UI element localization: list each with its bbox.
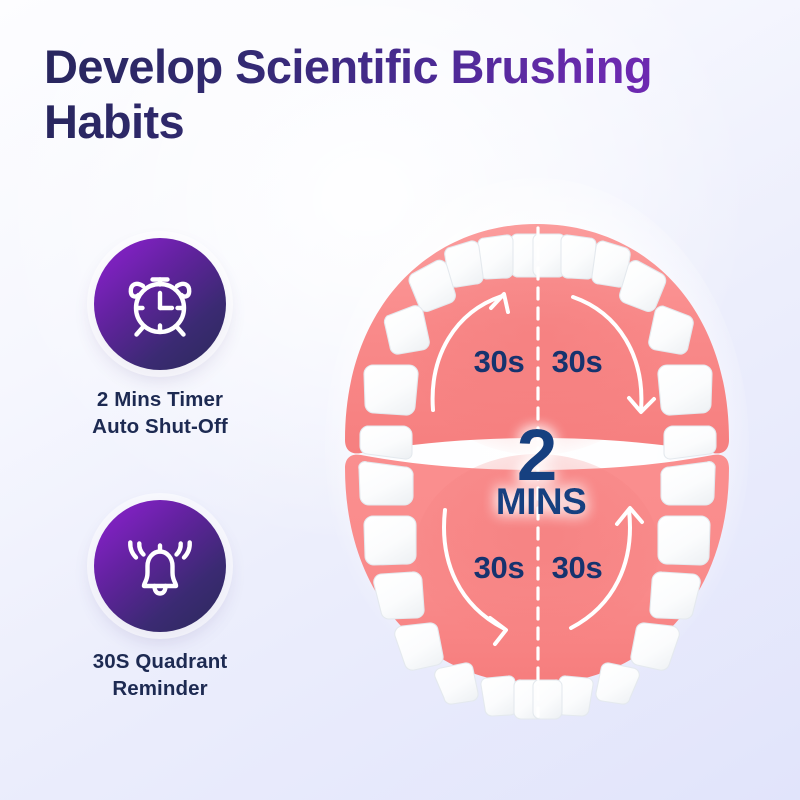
feature-item-timer: 2 Mins Timer Auto Shut-Off — [0, 238, 320, 440]
tooth — [359, 462, 413, 505]
tooth — [631, 623, 679, 670]
quadrant-label-upper-right: 30s — [552, 344, 603, 379]
tooth — [658, 365, 712, 415]
feature-label-reminder: 30S Quadrant Reminder — [93, 649, 228, 702]
alarm-clock-icon — [118, 262, 202, 346]
feature-item-reminder: 30S Quadrant Reminder — [0, 500, 320, 702]
ringing-bell-badge — [94, 500, 226, 632]
feature-list: 2 Mins Timer Auto Shut-Off 30S Quadran — [0, 238, 320, 703]
dental-arch-diagram: 30s 30s — [305, 150, 775, 750]
infographic-canvas: Develop Scientific Brushing Habits — [0, 0, 800, 800]
tooth — [561, 235, 596, 279]
tooth — [364, 516, 416, 565]
tooth — [478, 235, 513, 279]
tooth — [395, 623, 443, 670]
tooth — [374, 572, 424, 619]
alarm-clock-badge — [94, 238, 226, 370]
quadrant-label-lower-left: 30s — [474, 550, 525, 585]
tooth — [360, 426, 412, 459]
tooth — [596, 663, 639, 704]
quadrant-label-lower-right: 30s — [552, 550, 603, 585]
tooth — [661, 462, 715, 505]
tooth — [650, 572, 700, 619]
tooth — [435, 663, 478, 704]
tooth — [364, 365, 418, 415]
tooth — [658, 516, 710, 565]
page-title: Develop Scientific Brushing Habits — [44, 40, 784, 150]
tooth — [481, 676, 517, 716]
quadrant-label-upper-left: 30s — [474, 344, 525, 379]
ringing-bell-icon — [118, 524, 202, 608]
tooth — [664, 426, 716, 459]
feature-label-timer: 2 Mins Timer Auto Shut-Off — [92, 387, 228, 440]
total-time-unit: MINS — [496, 481, 587, 522]
